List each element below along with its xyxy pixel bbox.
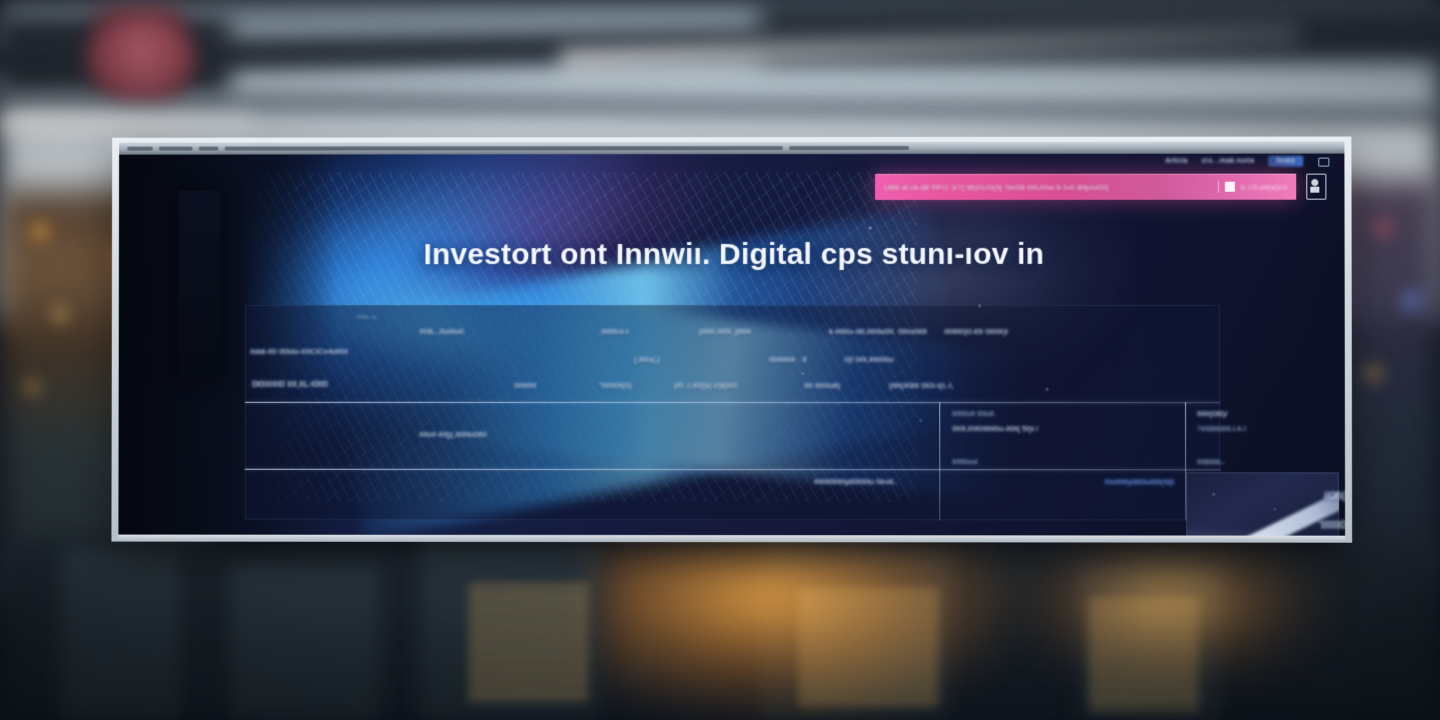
browser-chrome-bar[interactable] bbox=[119, 142, 1344, 155]
promo-search-bar[interactable]: Utilii di-rA-i8I RFO 3/7(:IB)01!0(0( !9•… bbox=[875, 174, 1296, 200]
card-cell: IIIIIIIoII I0IoII. bbox=[952, 409, 996, 418]
right-panel-subheading: 'IIIIIII0IIIoI0IIAIIIIoIIoII0IIIII0 bbox=[1319, 521, 1345, 532]
monitor-frame: Articla cro...mak.norla Inves Utilii di-… bbox=[111, 137, 1352, 543]
card-text-fragment: (IIIIII,III0I.,)IIIIII bbox=[699, 327, 751, 336]
promo-search-text: Utilii di-rA-i8I RFO 3/7(:IB)01!0(0( !9•… bbox=[884, 182, 1212, 191]
vertical-separator bbox=[1218, 181, 1219, 193]
card-divider-top bbox=[245, 402, 1220, 403]
card-body-note: IIIIoII-I0Ij)(,II0IIIo0I0I bbox=[419, 430, 486, 439]
card-text-fragment: IIIIIIIIiIIr . II bbox=[769, 355, 807, 364]
card-footer-note: IIIIIII0IIIIIIyII0I0IIIo IIIroII.. bbox=[814, 477, 898, 486]
swatch-icon bbox=[1225, 182, 1235, 192]
card-text-fragment: ii-IIIIIIo-IIII,IIIIIIo0II. 0IIIo0I0I bbox=[829, 327, 927, 336]
window-icon[interactable] bbox=[1317, 156, 1328, 167]
card-divider-bottom bbox=[245, 469, 1220, 471]
monitor-bezel-gloss bbox=[118, 535, 1345, 541]
card-cell: IIIIII(0I0)/ bbox=[1197, 409, 1227, 418]
thumbnail-image[interactable] bbox=[1186, 472, 1339, 535]
card-text-fragment: /I(I 0III,IIIII0IIo bbox=[844, 355, 893, 364]
card-meta-line: 0I0IIIIIII0 IIII,IIL-I0II0 bbox=[252, 379, 328, 389]
thumbnail-specks bbox=[1186, 472, 1339, 535]
card-divider-vertical-1 bbox=[939, 402, 940, 520]
nav-item-0[interactable]: Articla bbox=[1165, 158, 1187, 165]
card-cell: 0I0I,I0II0IIIII0o-II0I( 5I)I / bbox=[952, 424, 1038, 433]
card-text-fragment: (I0 ,I,II0))I(-I/)I(III0 bbox=[674, 381, 737, 390]
card-text-fragment: (,IIIIo(,) bbox=[634, 355, 660, 364]
promo-search-tail: Ii..i-9-o4(w)I-ri bbox=[1241, 182, 1287, 191]
card-text-fragment: IIIIIII0)0-I0I 0IIIIII)I bbox=[944, 327, 1008, 336]
hero-pillar bbox=[178, 190, 220, 379]
card-cell: IIII6I0IL- bbox=[1197, 457, 1225, 466]
content-card: I!0IIL-Io IIddi-II0 00Ido-I0ICICv4dII0I … bbox=[245, 305, 1221, 521]
card-text-fragment: IIIIIIIIII bbox=[514, 381, 536, 390]
page-title: Investort ont Innwiı. Digital cps stunı-… bbox=[424, 238, 1144, 272]
chrome-toolbar[interactable] bbox=[789, 146, 909, 150]
card-text-fragment: (IIII(II0III 0I0I-I(I,-I, bbox=[889, 381, 954, 390]
chrome-tab[interactable] bbox=[127, 147, 153, 151]
chrome-address-bar[interactable] bbox=[224, 146, 782, 150]
card-meta-tiny: I!0IIL-Io bbox=[357, 315, 377, 321]
card-cell: ?I/I0III0IIII,I-Ii-I bbox=[1197, 424, 1246, 433]
right-panel-heading: iI0II(II ,)I \/I I0I0I-0I ,)I bbox=[1324, 490, 1345, 502]
card-text-fragment: "IIIIII0I(0) bbox=[599, 381, 632, 390]
top-navigation[interactable]: Articla cro...mak.norla Inves bbox=[1165, 156, 1328, 167]
chrome-tab[interactable] bbox=[159, 147, 193, 151]
nav-item-1[interactable]: cro...mak.norla bbox=[1202, 158, 1255, 165]
card-cell-link[interactable]: IIIoIIIIIIy0II0IoII0I(I0(I bbox=[1105, 477, 1175, 486]
screen-viewport: Articla cro...mak.norla Inves Utilii di-… bbox=[118, 142, 1345, 536]
card-text-fragment: ,IIIIIIIoI-I bbox=[599, 327, 628, 336]
nav-item-2[interactable]: Inves bbox=[1268, 156, 1303, 167]
card-text-fragment: I!0IL.,IIoIIIo0 bbox=[419, 327, 463, 336]
chrome-control[interactable] bbox=[199, 147, 219, 151]
card-text-fragment: IIII IIIIIIoII) bbox=[804, 381, 840, 390]
person-card-icon[interactable] bbox=[1306, 174, 1326, 200]
card-cell: IIIIIIIooI bbox=[952, 457, 977, 466]
card-meta-line: IIddi-II0 00Ido-I0ICICv4dII0I bbox=[250, 347, 348, 356]
